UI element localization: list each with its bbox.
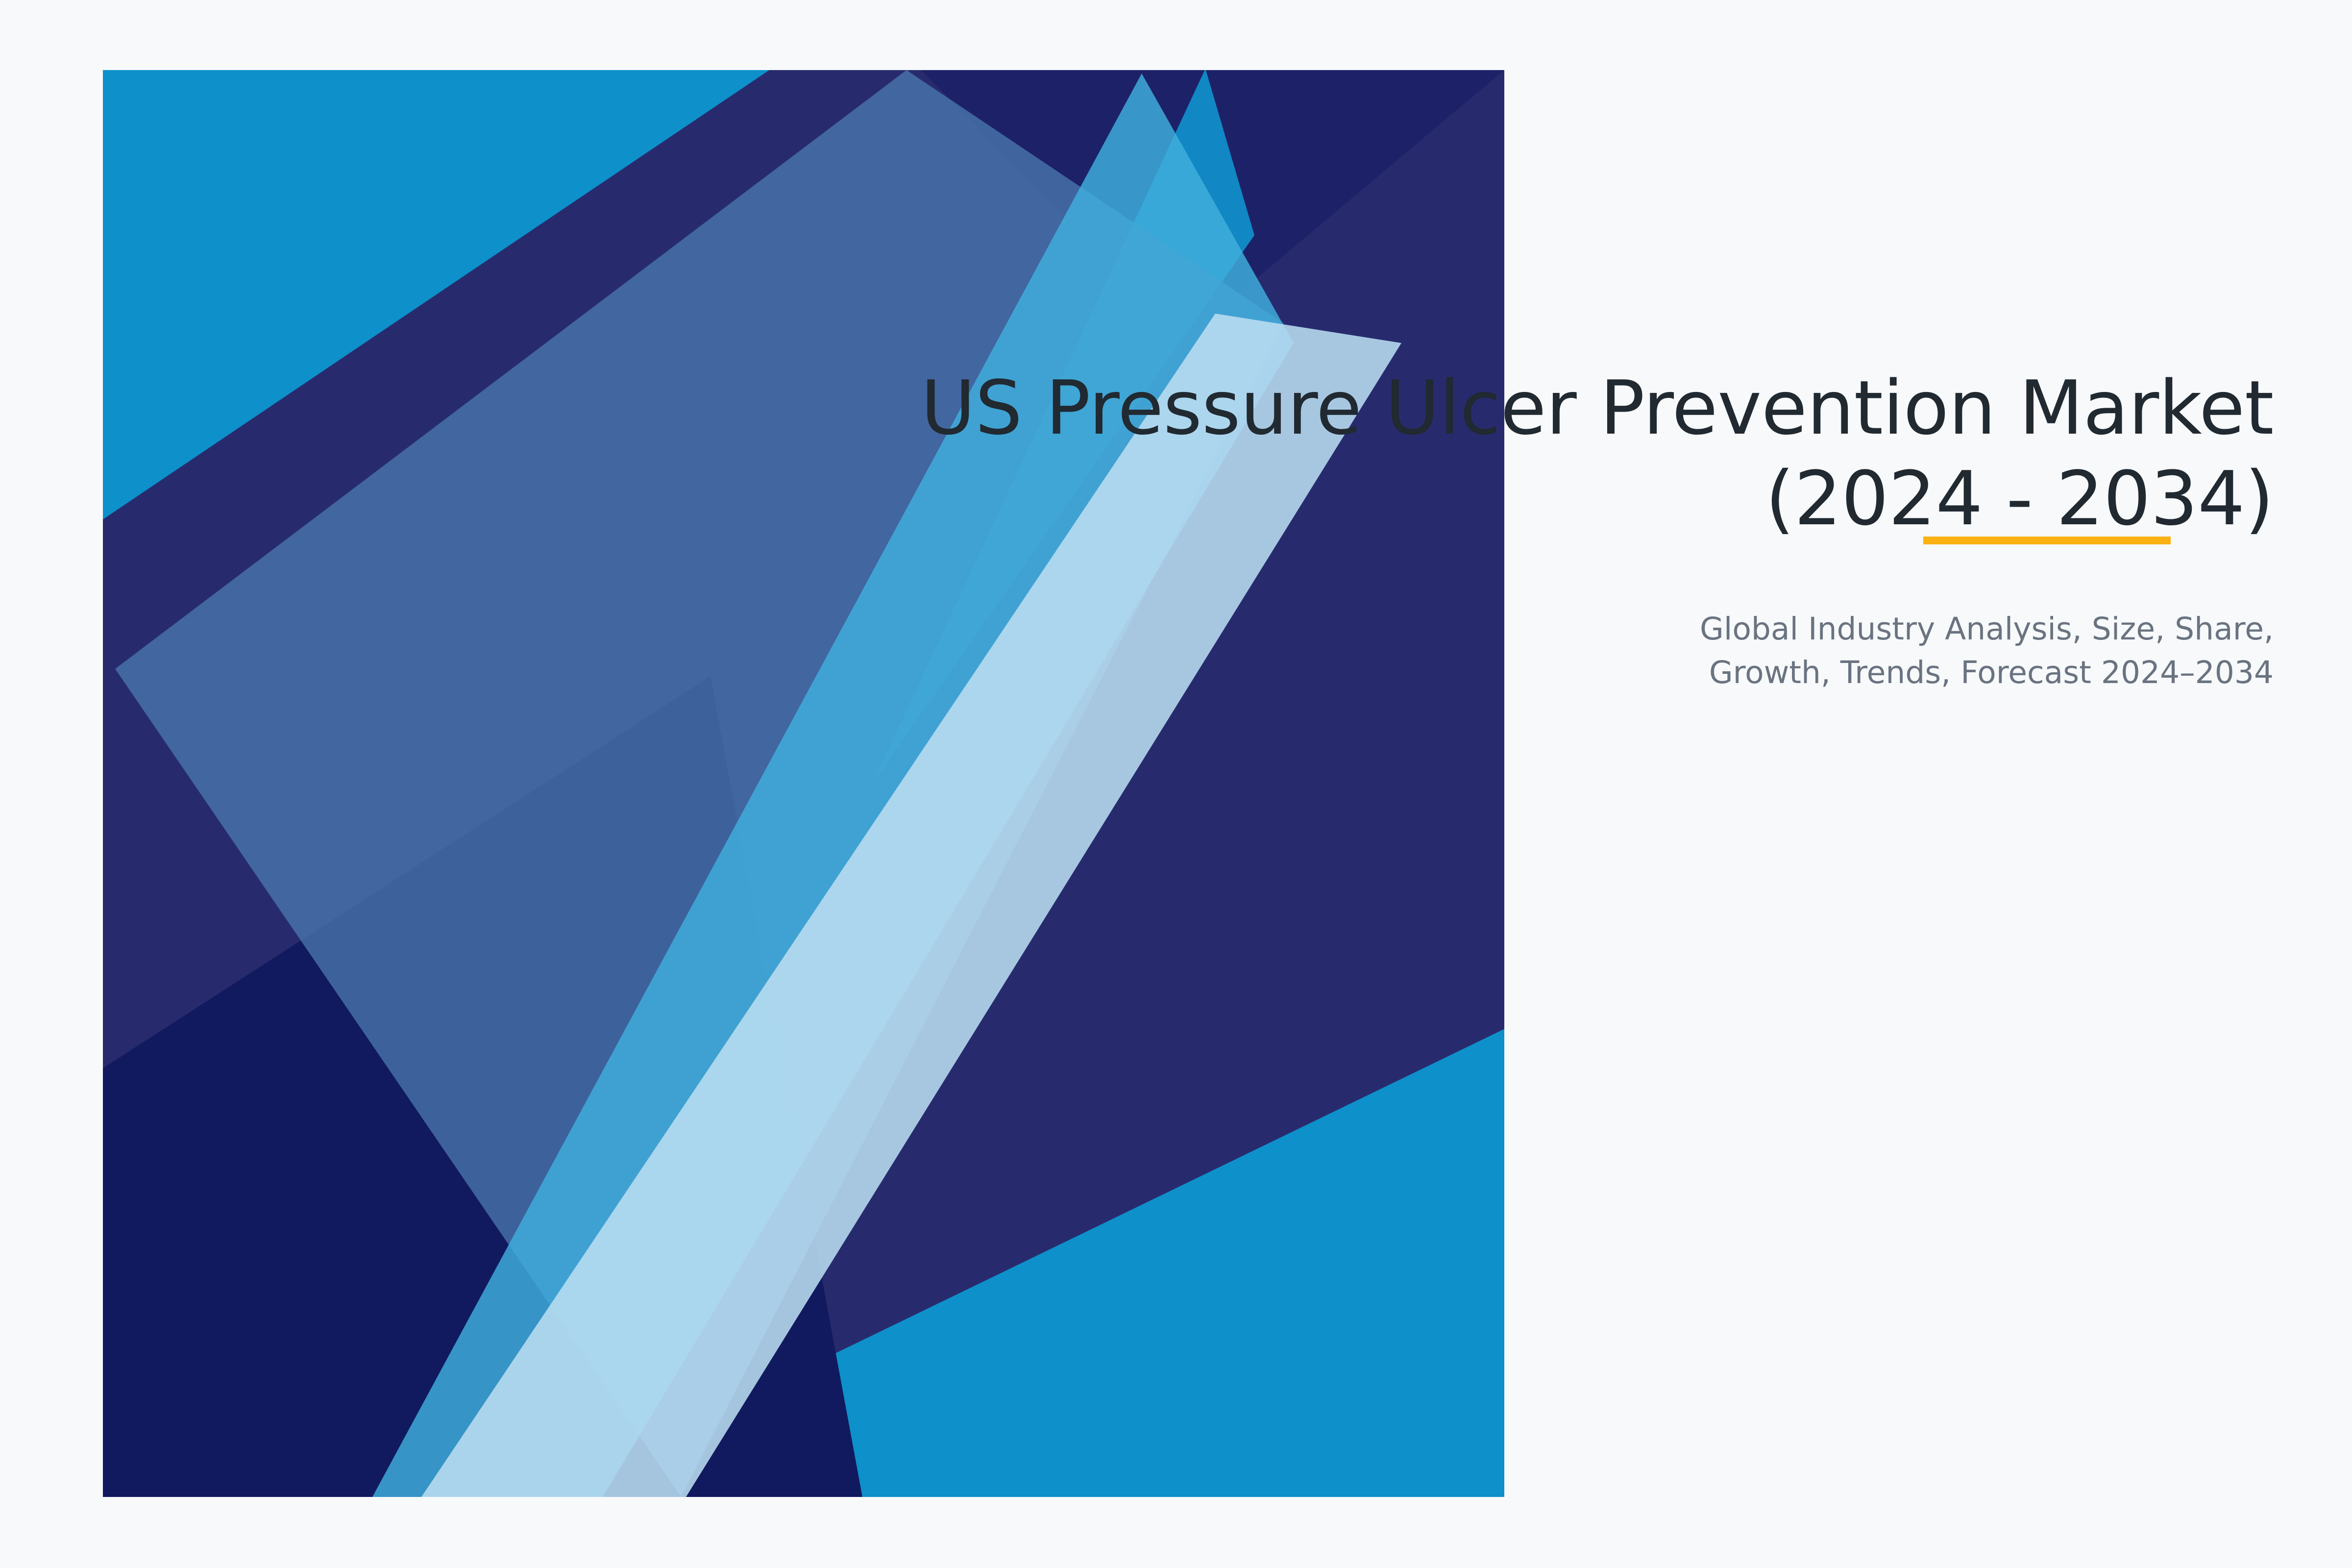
page-title: US Pressure Ulcer Prevention Market (202…	[774, 363, 2274, 544]
report-cover: US Pressure Ulcer Prevention Market (202…	[0, 0, 2352, 1568]
title-accent-underline	[1923, 537, 2171, 544]
page-subtitle: Global Industry Analysis, Size, Share, G…	[774, 607, 2274, 695]
title-wrap: US Pressure Ulcer Prevention Market (202…	[774, 363, 2274, 544]
cover-text-block: US Pressure Ulcer Prevention Market (202…	[774, 363, 2274, 695]
abstract-geometric-artwork	[0, 0, 2352, 1568]
